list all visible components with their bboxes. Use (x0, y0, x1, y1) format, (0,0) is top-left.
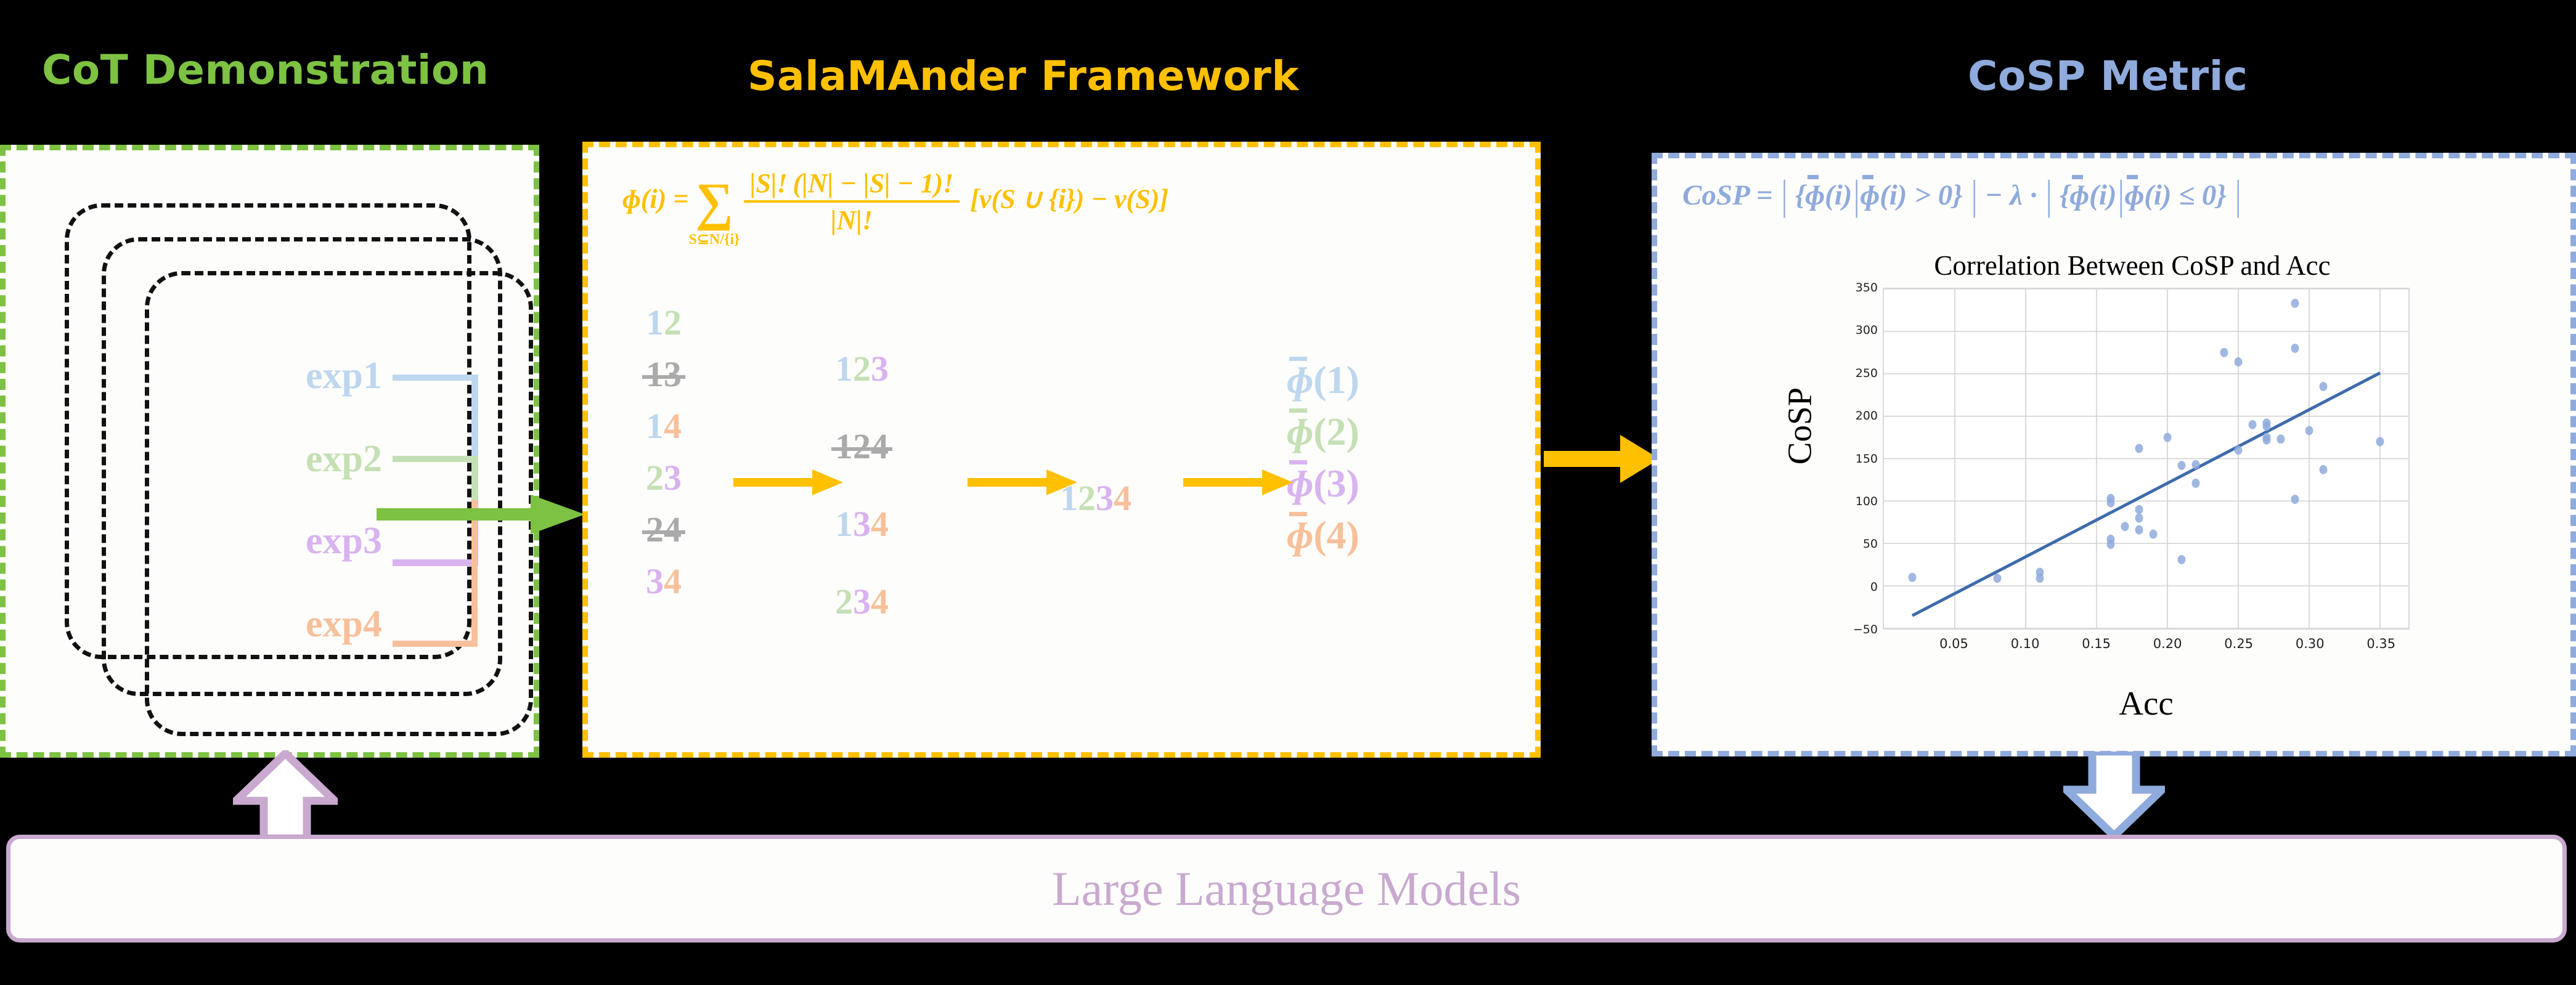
scatter-point (2178, 555, 2186, 564)
coalition-column-pairs: 12 13 14 23 24 34 (646, 305, 682, 615)
scatter-point (2135, 505, 2143, 514)
phi-output-3: ɸ(3) (1287, 464, 1359, 516)
coalition-item: 123 (835, 351, 889, 429)
chart-y-tick-label: 300 (1798, 323, 1878, 337)
scatter-point (2235, 445, 2243, 455)
trendline (1912, 373, 2380, 615)
scatter-point (2249, 420, 2257, 429)
abs-bar-close-1: | (1970, 171, 1978, 219)
chart-y-axis-label: CoSP (1780, 303, 1819, 549)
coalition-item: 134 (835, 506, 889, 584)
abs-bar-open-2: | (2044, 171, 2052, 219)
coalition-item: 14 (646, 408, 682, 460)
page-title-framework: SalaMAnder Framework (748, 52, 1299, 100)
arrow-down-blue-icon (2063, 752, 2165, 838)
chart-y-tick-label: −50 (1798, 623, 1878, 636)
scatter-point (2150, 530, 2158, 539)
scatter-point (2192, 460, 2200, 469)
coalition-item: 12 (646, 305, 682, 357)
abs-bar-open-1: | (1780, 171, 1788, 219)
scatter-point (2135, 444, 2143, 453)
chart-y-tick-label: 0 (1798, 580, 1878, 594)
scatter-point (1909, 573, 1917, 582)
scatter-point (2291, 344, 2299, 353)
cosp-lhs: CoSP = (1682, 179, 1773, 211)
scatter-point (2305, 426, 2313, 436)
chart-y-tick-label: 50 (1798, 537, 1878, 551)
scatter-point (2291, 299, 2299, 308)
coalition-item: 23 (646, 460, 682, 512)
chart-x-tick-label: 0.10 (1988, 636, 2062, 651)
chart-y-tick-label: 350 (1798, 281, 1878, 294)
llm-bar-label: Large Language Models (1052, 861, 1521, 917)
coalition-item: 34 (646, 564, 682, 615)
coalition-item: 234 (835, 584, 889, 662)
chart-x-axis-label: Acc (1883, 684, 2410, 723)
scatter-point (2036, 574, 2044, 583)
scatter-point (2235, 357, 2243, 367)
scatter-point (2376, 437, 2384, 447)
chart-y-tick-label: 100 (1798, 495, 1878, 508)
coalition-column-triples: 123 124 134 234 (835, 351, 889, 662)
chart-x-tick-label: 0.15 (2060, 636, 2134, 651)
chart-title: Correlation Between CoSP and Acc (1775, 249, 2490, 282)
exp-label-1: exp1 (240, 354, 382, 398)
cosp-acc-scatter-chart: Correlation Between CoSP and Acc CoSP Ac… (1775, 249, 2490, 736)
arrow-right-orange-icon-1 (733, 468, 844, 497)
chart-y-tick-label: 200 (1798, 409, 1878, 423)
cosp-positive-set: {ɸ(i)|ɸ(i) > 0} (1795, 179, 1963, 211)
scatter-point (2135, 513, 2143, 522)
arrow-up-purple-icon (233, 750, 338, 840)
page-title-cot: CoT Demonstration (42, 46, 489, 94)
chart-y-tick-label: 150 (1798, 452, 1878, 466)
scatter-point (2107, 498, 2115, 508)
formula-lhs: ɸ(i) = (622, 184, 688, 214)
scatter-point (2291, 495, 2299, 504)
chart-x-tick-label: 0.05 (1917, 636, 1991, 651)
scatter-point (2121, 522, 2129, 531)
large-language-models-bar: Large Language Models (6, 835, 2567, 942)
coalition-item: 13 (646, 357, 682, 408)
chart-x-tick-label: 0.25 (2202, 636, 2276, 651)
shapley-output-column: ɸ(1) ɸ(2) ɸ(3) ɸ(4) (1287, 360, 1359, 567)
arrow-right-green-icon (377, 490, 586, 539)
chart-plot-svg (1884, 289, 2408, 628)
exp-label-2: exp2 (240, 437, 382, 481)
scatter-point (2263, 436, 2271, 445)
scatter-point (2277, 434, 2285, 444)
arrow-right-orange-icon-main (1544, 431, 1661, 487)
coalition-item: 24 (646, 512, 682, 564)
arrow-right-orange-icon-3 (1183, 468, 1294, 497)
scatter-point (2164, 433, 2172, 442)
cosp-metric-formula: CoSP = | {ɸ(i)|ɸ(i) > 0} | − λ · | {ɸ(i)… (1682, 179, 2564, 234)
bracket-line-exp1-vertical (471, 375, 478, 457)
scatter-point (2220, 348, 2228, 357)
summation-symbol-icon: ∑S⊆N/{i} (695, 181, 733, 222)
scatter-point (1994, 574, 2002, 583)
bracket-line-exp4-horizontal (393, 641, 478, 647)
scatter-point (2178, 461, 2186, 470)
chart-plot-area (1883, 288, 2410, 630)
summation-subscript: S⊆N/{i} (688, 234, 740, 246)
fraction-numerator: |S|! (|N| − |S| − 1)! (744, 168, 960, 203)
shapley-value-formula: ɸ(i) = ∑S⊆N/{i} |S|! (|N| − |S| − 1)! |N… (622, 168, 1504, 278)
marginal-contribution-term: [v(S ∪ {i}) − v(S)] (970, 184, 1168, 214)
chart-x-tick-label: 0.30 (2273, 636, 2347, 651)
arrow-right-orange-icon-2 (968, 468, 1078, 497)
phi-output-4: ɸ(4) (1287, 516, 1359, 567)
chart-x-tick-label: 0.20 (2130, 636, 2204, 651)
cosp-minus-lambda: − λ · (1985, 179, 2037, 211)
scatter-point (2320, 382, 2328, 391)
scatter-point (2107, 540, 2115, 549)
fraction-denominator: |N|! (744, 203, 960, 236)
weight-fraction: |S|! (|N| − |S| − 1)! |N|! (744, 168, 960, 236)
bracket-line-exp2-horizontal (393, 456, 478, 462)
phi-output-2: ɸ(2) (1287, 412, 1359, 464)
chart-x-tick-label: 0.35 (2344, 636, 2418, 651)
exp-label-4: exp4 (240, 602, 382, 646)
exp-label-3: exp3 (240, 519, 382, 563)
chart-y-tick-label: 250 (1798, 367, 1878, 380)
scatter-point (2192, 479, 2200, 488)
phi-output-1: ɸ(1) (1287, 360, 1359, 412)
cosp-nonpositive-set: {ɸ(i)|ɸ(i) ≤ 0} (2060, 179, 2227, 211)
page-title-cosp: CoSP Metric (1968, 52, 2248, 100)
scatter-point (2135, 525, 2143, 535)
scatter-point (2263, 422, 2271, 431)
scatter-point (2320, 465, 2328, 474)
abs-bar-close-2: | (2234, 171, 2242, 219)
bracket-line-exp3-horizontal (393, 559, 478, 566)
bracket-line-exp1-horizontal (393, 375, 478, 381)
